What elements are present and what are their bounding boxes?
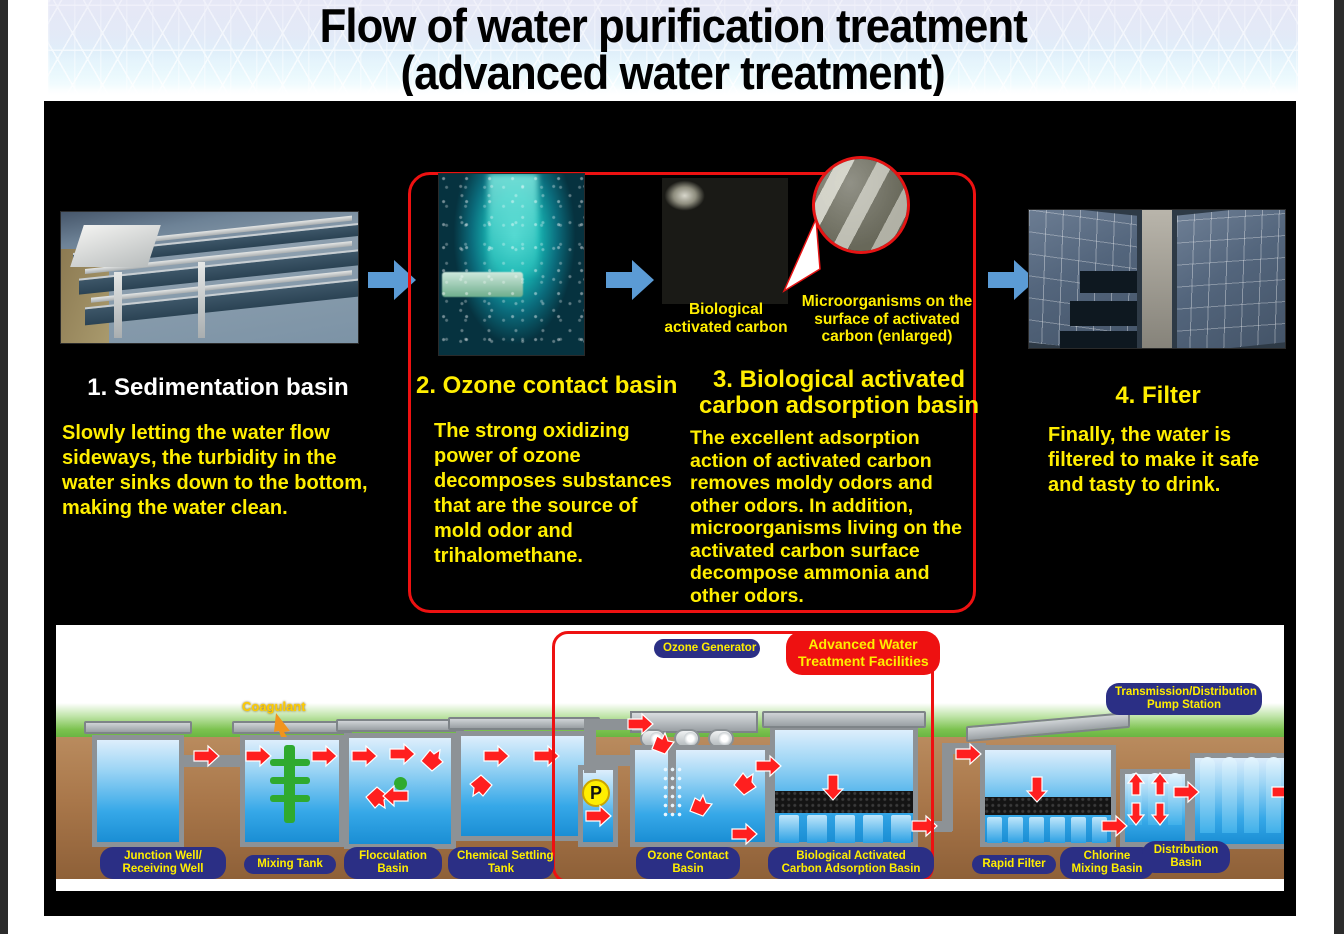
label-line1: Ozone Contact (647, 850, 728, 862)
rapid-filter-photo (1028, 209, 1286, 349)
caption-line1: Microorganisms on the (794, 293, 980, 311)
diagram-label-junction-well: Junction Well/ Receiving Well (100, 847, 226, 879)
step-4-description: Finally, the water is filtered to make i… (1048, 423, 1272, 498)
label-line1: Mixing Tank (257, 858, 323, 870)
label-line2: Receiving Well (123, 863, 204, 875)
label-line1: Biological Activated (796, 850, 906, 862)
label-line1: Distribution (1154, 844, 1219, 856)
diagram-label-distribution-basin: Distribution Basin (1142, 841, 1230, 873)
label-line1: Rapid Filter (982, 858, 1045, 870)
label-line2: Mixing Basin (1072, 863, 1143, 875)
caption-line2: surface of activated (794, 311, 980, 329)
step-4-heading: 4. Filter (1044, 383, 1272, 409)
page-edge-left (0, 0, 8, 934)
diagram-label-ozone-contact: Ozone Contact Basin (636, 847, 740, 879)
page-edge-right (1334, 0, 1344, 934)
diagram-label-rapid-filter: Rapid Filter (972, 855, 1056, 874)
label-line1: Transmission/Distribution (1115, 686, 1257, 698)
flow-arrow-2-icon (604, 256, 656, 304)
slide-page: Flow of water purification treatment (ad… (0, 0, 1344, 934)
label-line1: Flocculation (359, 850, 427, 862)
diagram-label-bac-basin: Biological Activated Carbon Adsorption B… (768, 847, 934, 879)
label-line1: Junction Well/ (124, 850, 202, 862)
advanced-treatment-badge: Advanced Water Treatment Facilities (786, 631, 940, 675)
page-title-line2: (advanced water treatment) (401, 50, 945, 96)
label-line2: Carbon Adsorption Basin (782, 863, 921, 875)
label-line2: Basin (1170, 857, 1201, 869)
step-1-description: Slowly letting the water flow sideways, … (62, 421, 388, 521)
diagram-label-flocculation: Flocculation Basin (344, 847, 442, 879)
caption-microorganisms: Microorganisms on the surface of activat… (794, 293, 980, 346)
caption-line3: carbon (enlarged) (794, 328, 980, 346)
step-2-description: The strong oxidizing power of ozone deco… (434, 419, 682, 569)
microorganism-magnified-photo (812, 156, 910, 254)
label-line1: Chemical Settling (457, 850, 554, 862)
diagram-label-pump-station: Transmission/Distribution Pump Station (1106, 683, 1262, 715)
process-flow-diagram: Coagulant P (56, 625, 1284, 891)
label-line1: Ozone Generator (663, 642, 756, 654)
diagram-label-chemical-settling: Chemical Settling Tank (448, 847, 554, 879)
diagram-label-mixing-tank: Mixing Tank (244, 855, 336, 874)
sedimentation-basin-photo (60, 211, 359, 344)
badge-line1: Advanced Water (808, 636, 917, 652)
title-banner: Flow of water purification treatment (ad… (48, 0, 1298, 96)
step-2-heading: 2. Ozone contact basin (416, 373, 680, 399)
slide-body: Biological activated carbon Microorganis… (44, 101, 1296, 916)
diagram-label-chlorine-mixing: Chlorine Mixing Basin (1060, 847, 1154, 879)
caption-line1: Biological (656, 301, 796, 319)
step-3-heading-line2: carbon adsorption basin (688, 393, 990, 419)
label-line2: Tank (488, 863, 514, 875)
ozone-contact-basin-photo (438, 173, 585, 356)
step-3-heading-line1: 3. Biological activated (688, 367, 990, 393)
step-1-heading: 1. Sedimentation basin (68, 375, 368, 401)
label-line2: Pump Station (1147, 699, 1221, 711)
badge-line2: Treatment Facilities (798, 653, 929, 669)
label-line1: Chlorine (1084, 850, 1131, 862)
page-title-line1: Flow of water purification treatment (319, 2, 1026, 50)
diagram-label-ozone-generator: Ozone Generator (654, 639, 760, 658)
label-line2: Basin (377, 863, 408, 875)
caption-biological-activated-carbon: Biological activated carbon (656, 301, 796, 336)
label-line2: Basin (672, 863, 703, 875)
caption-line2: activated carbon (656, 319, 796, 337)
step-3-description: The excellent adsorption action of activ… (690, 427, 980, 607)
biological-activated-carbon-photo (662, 178, 788, 304)
flow-arrow-1-icon (366, 256, 418, 304)
step-3-heading: 3. Biological activated carbon adsorptio… (688, 367, 990, 419)
